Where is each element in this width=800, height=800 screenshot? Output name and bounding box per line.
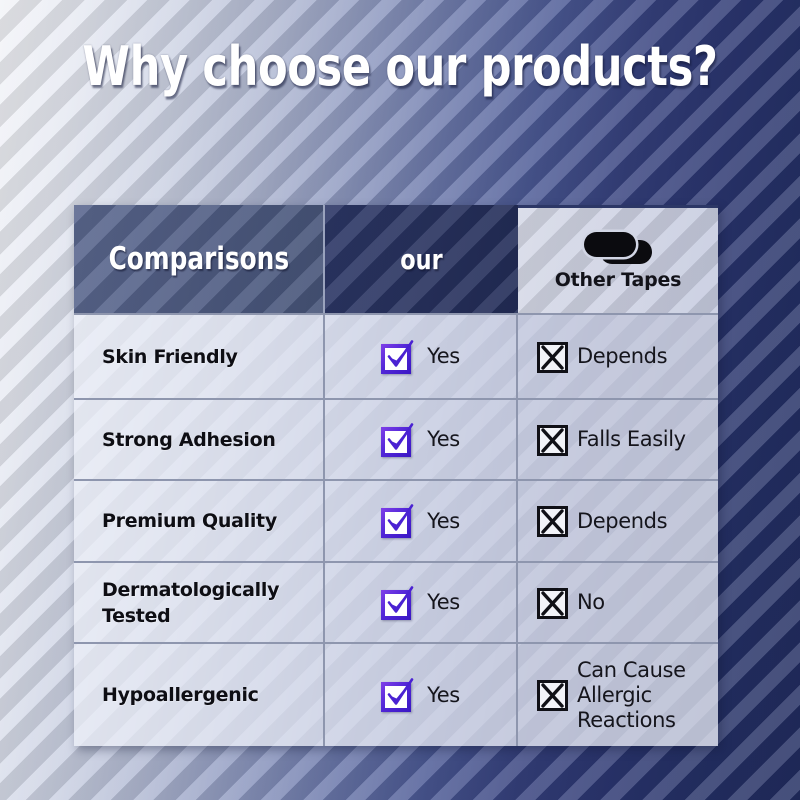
feature-cell: DermatologicallyTested (74, 563, 325, 642)
our-answer-cell: Yes (325, 644, 518, 746)
other-answer-label: Falls Easily (577, 427, 686, 452)
other-answer-cell: Can CauseAllergicReactions (518, 644, 718, 746)
our-answer-cell: Yes (325, 563, 518, 642)
feature-label: DermatologicallyTested (102, 577, 279, 629)
our-answer-label: Yes (427, 427, 460, 452)
crossed-checkbox-icon (536, 340, 570, 374)
our-answer-cell: Yes (325, 481, 518, 561)
checked-checkbox-icon (381, 678, 415, 712)
header-cell-comparisons: Comparisons (74, 205, 325, 313)
other-answer-label: Depends (577, 344, 667, 369)
checked-checkbox-icon (381, 586, 415, 620)
header-label-our: our (400, 243, 442, 276)
checked-checkbox-icon (381, 340, 415, 374)
crossed-checkbox-icon (536, 678, 570, 712)
feature-cell: Hypoallergenic (74, 644, 325, 746)
table-row: Premium QualityYesDepends (74, 479, 718, 561)
poster-canvas: Why choose our products? Comparisons our… (0, 0, 800, 800)
stacked-tape-rolls-icon (582, 230, 654, 266)
our-answer-label: Yes (427, 509, 460, 534)
checked-checkbox-icon (381, 504, 415, 538)
our-answer-label: Yes (427, 590, 460, 615)
crossed-checkbox-icon (536, 423, 570, 457)
other-answer-label: No (577, 590, 605, 615)
checked-checkbox-icon (381, 423, 415, 457)
other-answer-cell: No (518, 563, 718, 642)
other-answer-cell: Depends (518, 315, 718, 398)
our-answer-label: Yes (427, 683, 460, 708)
header-label-other-tapes: Other Tapes (555, 269, 682, 291)
other-answer-cell: Depends (518, 481, 718, 561)
header-cell-other-tapes: Other Tapes (518, 205, 718, 313)
our-answer-cell: Yes (325, 400, 518, 479)
header-cell-our: our (325, 205, 518, 313)
feature-label: Strong Adhesion (102, 427, 276, 453)
other-answer-cell: Falls Easily (518, 400, 718, 479)
table-row: Skin FriendlyYesDepends (74, 313, 718, 398)
crossed-checkbox-icon (536, 586, 570, 620)
feature-cell: Skin Friendly (74, 315, 325, 398)
table-header-row: Comparisons our Other Tapes (74, 205, 718, 313)
other-answer-label: Depends (577, 509, 667, 534)
other-answer-label: Can CauseAllergicReactions (577, 658, 686, 733)
feature-cell: Premium Quality (74, 481, 325, 561)
feature-cell: Strong Adhesion (74, 400, 325, 479)
header-label-comparisons: Comparisons (108, 241, 289, 277)
table-row: HypoallergenicYesCan CauseAllergicReacti… (74, 642, 718, 746)
our-answer-cell: Yes (325, 315, 518, 398)
feature-label: Premium Quality (102, 508, 277, 534)
table-row: Strong AdhesionYesFalls Easily (74, 398, 718, 479)
feature-label: Hypoallergenic (102, 682, 259, 708)
table-body: Skin FriendlyYesDependsStrong AdhesionYe… (74, 313, 718, 746)
feature-label: Skin Friendly (102, 344, 238, 370)
crossed-checkbox-icon (536, 504, 570, 538)
page-title: Why choose our products? (80, 36, 720, 98)
comparison-table: Comparisons our Other Tapes Skin Friendl… (74, 205, 718, 746)
table-row: DermatologicallyTestedYesNo (74, 561, 718, 642)
our-answer-label: Yes (427, 344, 460, 369)
